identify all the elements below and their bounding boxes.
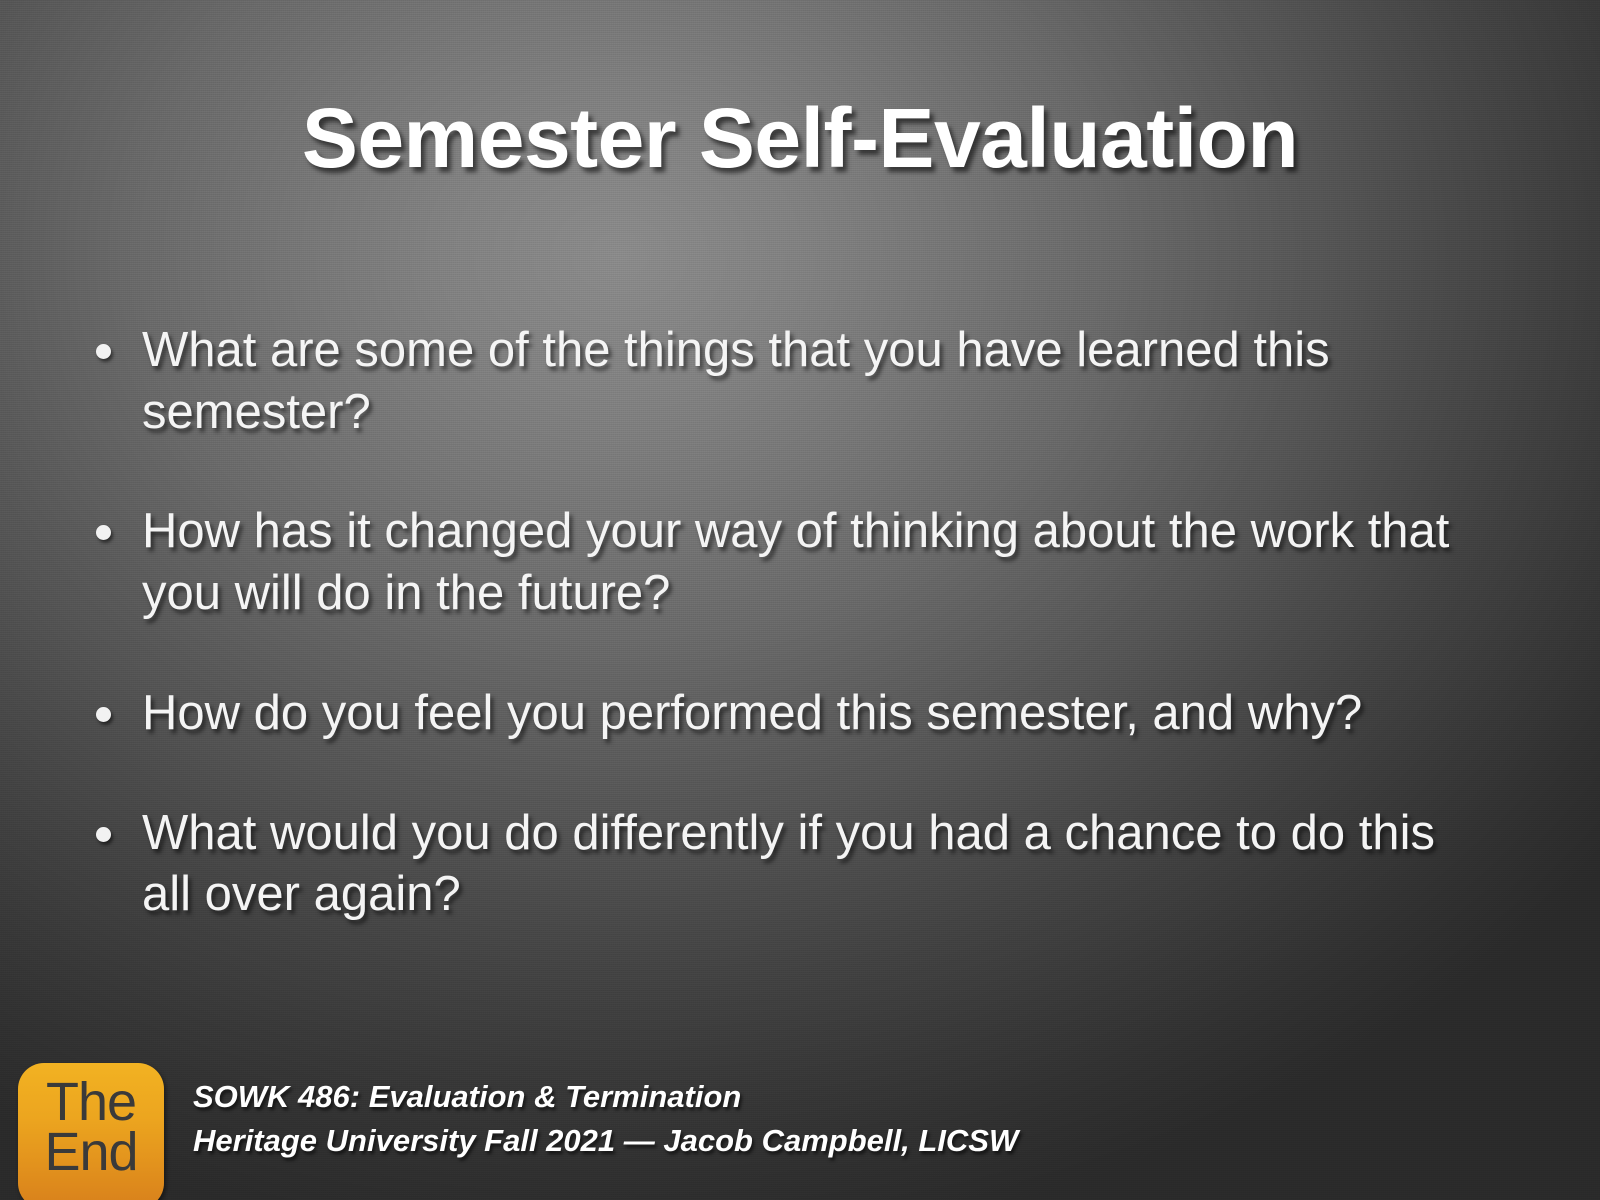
logo-text-line-1: The <box>18 1077 164 1127</box>
logo-text: The End <box>18 1077 164 1177</box>
bullet-dot-icon <box>96 827 111 842</box>
list-item: How do you feel you performed this semes… <box>96 683 1496 745</box>
footer-course-line: SOWK 486: Evaluation & Termination <box>193 1075 1018 1119</box>
footer-attribution-line: Heritage University Fall 2021 — Jacob Ca… <box>193 1119 1018 1163</box>
the-end-logo-icon: The End <box>18 1063 164 1200</box>
list-item-text: What would you do differently if you had… <box>142 803 1496 926</box>
list-item: How has it changed your way of thinking … <box>96 501 1496 624</box>
presentation-slide: Semester Self-Evaluation What are some o… <box>0 0 1600 1200</box>
list-item-text: What are some of the things that you hav… <box>142 320 1496 443</box>
list-item-text: How has it changed your way of thinking … <box>142 501 1496 624</box>
logo-text-line-2: End <box>18 1127 164 1177</box>
list-item: What would you do differently if you had… <box>96 803 1496 926</box>
bullet-dot-icon <box>96 525 111 540</box>
footer-text-block: SOWK 486: Evaluation & Termination Herit… <box>193 1075 1018 1163</box>
list-item: What are some of the things that you hav… <box>96 320 1496 443</box>
list-item-text: How do you feel you performed this semes… <box>142 683 1496 745</box>
page-title: Semester Self-Evaluation <box>0 96 1600 180</box>
bullet-dot-icon <box>96 707 111 722</box>
bullet-list: What are some of the things that you hav… <box>96 320 1496 926</box>
bullet-dot-icon <box>96 344 111 359</box>
slide-footer: The End SOWK 486: Evaluation & Terminati… <box>0 1025 1600 1200</box>
